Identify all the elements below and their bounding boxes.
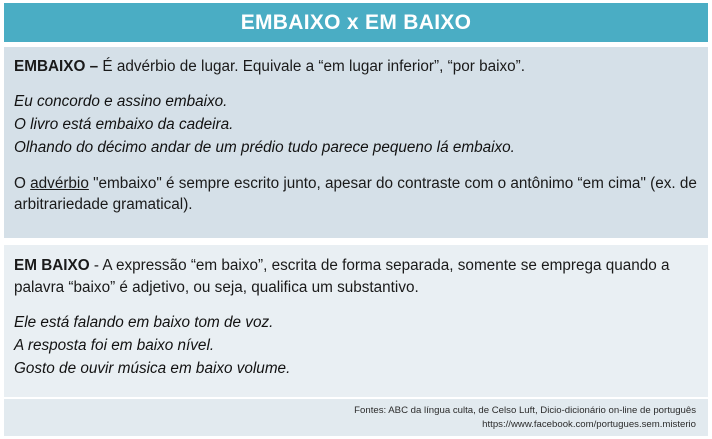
- footer-link[interactable]: https://www.facebook.com/portugues.sem.m…: [16, 418, 696, 432]
- list-item: O livro está embaixo da cadeira.: [14, 113, 698, 136]
- list-item: Gosto de ouvir música em baixo volume.: [14, 357, 698, 380]
- card-header-bar: EMBAIXO x EM BAIXO: [4, 3, 708, 42]
- card-footer: Fontes: ABC da língua culta, de Celso Lu…: [4, 399, 708, 436]
- list-item: Eu concordo e assino embaixo.: [14, 90, 698, 113]
- em-baixo-term: EM BAIXO: [14, 257, 90, 274]
- page-title: EMBAIXO x EM BAIXO: [241, 12, 472, 33]
- section-em-baixo: EM BAIXO - A expressão “em baixo”, escri…: [4, 245, 708, 397]
- section-embaixo: EMBAIXO – É advérbio de lugar. Equivale …: [4, 47, 708, 238]
- em-baixo-definition-paragraph: EM BAIXO - A expressão “em baixo”, escri…: [14, 245, 698, 298]
- note-underlined-word: advérbio: [30, 175, 89, 192]
- language-tip-card: EMBAIXO x EM BAIXO EMBAIXO – É advérbio …: [0, 0, 712, 439]
- em-baixo-definition-text: - A expressão “em baixo”, escrita de for…: [14, 257, 670, 296]
- footer-sources: Fontes: ABC da língua culta, de Celso Lu…: [16, 399, 696, 418]
- embaixo-definition-text: É advérbio de lugar. Equivale a “em luga…: [98, 58, 525, 75]
- note-text-after: "embaixo" é sempre escrito junto, apesar…: [14, 175, 697, 214]
- em-baixo-examples-list: Ele está falando em baixo tom de voz. A …: [14, 298, 698, 380]
- note-text-before: O: [14, 175, 30, 192]
- list-item: A resposta foi em baixo nível.: [14, 334, 698, 357]
- embaixo-definition-paragraph: EMBAIXO – É advérbio de lugar. Equivale …: [14, 47, 698, 78]
- embaixo-usage-note: O advérbio "embaixo" é sempre escrito ju…: [14, 159, 698, 216]
- embaixo-term: EMBAIXO –: [14, 58, 98, 75]
- list-item: Olhando do décimo andar de um prédio tud…: [14, 136, 698, 159]
- list-item: Ele está falando em baixo tom de voz.: [14, 311, 698, 334]
- embaixo-examples-list: Eu concordo e assino embaixo. O livro es…: [14, 78, 698, 159]
